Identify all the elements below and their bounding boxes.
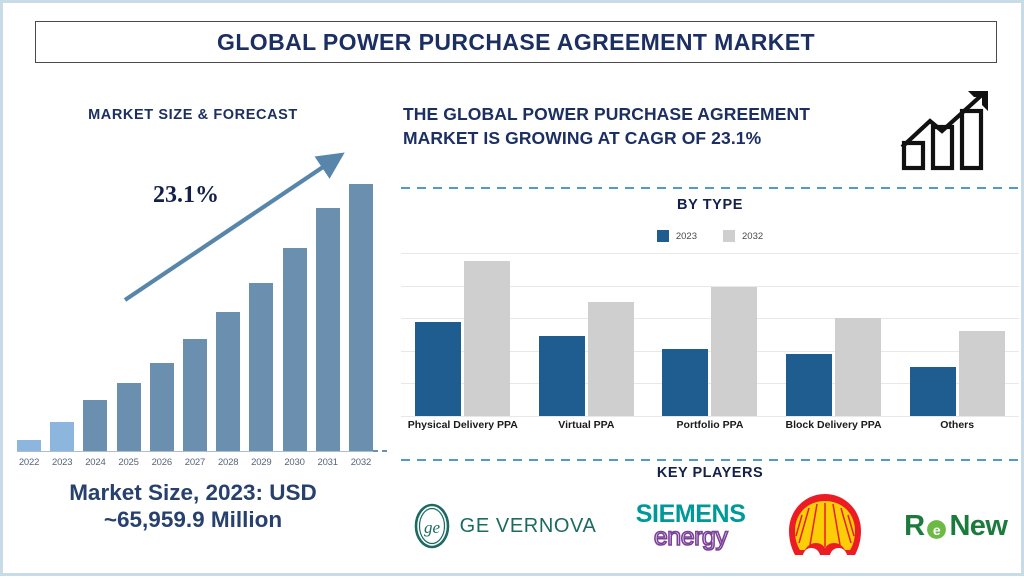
renew-logo[interactable]: R e New (904, 510, 1007, 543)
market-size-bar-2022 (17, 171, 41, 451)
cagr-headline: THE GLOBAL POWER PURCHASE AGREEMENT MARK… (403, 103, 863, 151)
svg-text:e: e (933, 522, 941, 538)
legend-swatch (723, 230, 735, 242)
legend-label: 2023 (676, 231, 697, 242)
market-size-bar-2023 (50, 171, 74, 451)
bar-group-block-delivery-ppa (786, 253, 881, 416)
bar (249, 283, 273, 451)
bar (83, 400, 107, 451)
gridline (401, 416, 1019, 417)
by-type-title: BY TYPE (393, 197, 1024, 213)
year-label: 2022 (17, 457, 41, 468)
bar-2023 (910, 367, 956, 416)
bar-2023 (786, 354, 832, 416)
legend-swatch (657, 230, 669, 242)
key-players-title: KEY PLAYERS (393, 465, 1024, 481)
shell-pecten-icon (785, 491, 865, 561)
bar-group-portfolio-ppa (662, 253, 757, 416)
by-type-legend: 20232032 (393, 230, 1024, 242)
by-type-category-labels: Physical Delivery PPAVirtual PPAPortfoli… (401, 419, 1019, 432)
shell-pecten-logo[interactable] (785, 491, 865, 561)
siemens-energy-subwordmark: energy (654, 526, 727, 549)
bar-2023 (539, 336, 585, 416)
category-label: Virtual PPA (530, 419, 642, 432)
market-size-year-labels: 2022202320242025202620272028202920302031… (17, 457, 373, 468)
ge-vernova-logo[interactable]: ge GE VERNOVA (413, 503, 597, 549)
by-type-bar-groups (401, 253, 1019, 416)
year-label: 2030 (283, 457, 307, 468)
bar (216, 312, 240, 451)
market-size-bar-2024 (83, 171, 107, 451)
year-label: 2026 (150, 457, 174, 468)
year-label: 2028 (216, 457, 240, 468)
bar (349, 184, 373, 451)
market-size-chart (17, 171, 373, 451)
renew-leaf-icon: e (925, 515, 948, 538)
market-size-panel: MARKET SIZE & FORECAST 23.1% 20222023202… (3, 75, 383, 579)
svg-text:ge: ge (424, 518, 441, 537)
market-size-bar-2032 (349, 171, 373, 451)
category-label: Others (901, 419, 1013, 432)
bar-group-physical-delivery-ppa (415, 253, 510, 416)
bar (117, 383, 141, 451)
bar-2032 (464, 261, 510, 416)
market-size-bar-2030 (283, 171, 307, 451)
bar-group-others (910, 253, 1005, 416)
market-size-bar-2028 (216, 171, 240, 451)
market-size-axis (17, 451, 373, 452)
category-label: Physical Delivery PPA (407, 419, 519, 432)
market-size-bars (17, 171, 373, 451)
year-label: 2029 (249, 457, 273, 468)
legend-item-2023[interactable]: 2023 (657, 230, 697, 242)
market-size-bar-2031 (316, 171, 340, 451)
bar (50, 422, 74, 451)
bar-2032 (711, 287, 757, 416)
market-size-heading: MARKET SIZE & FORECAST (3, 107, 383, 123)
page-title-box: GLOBAL POWER PURCHASE AGREEMENT MARKET (35, 21, 997, 63)
renew-wordmark-part1: R (904, 510, 924, 543)
renew-wordmark-part3: New (949, 510, 1007, 543)
bar-2023 (662, 349, 708, 416)
ge-vernova-wordmark: GE VERNOVA (460, 515, 597, 538)
bar (183, 339, 207, 451)
page-title: GLOBAL POWER PURCHASE AGREEMENT MARKET (217, 29, 815, 56)
divider-bottom (401, 459, 1019, 461)
infographic-root: GLOBAL POWER PURCHASE AGREEMENT MARKET M… (0, 0, 1024, 576)
year-label: 2024 (83, 457, 107, 468)
market-size-footer-line1: Market Size, 2023: USD (3, 479, 383, 506)
bar (17, 440, 41, 451)
category-label: Portfolio PPA (654, 419, 766, 432)
market-size-footer: Market Size, 2023: USD ~65,959.9 Million (3, 479, 383, 534)
year-label: 2023 (50, 457, 74, 468)
by-type-chart (401, 253, 1019, 416)
market-size-footer-line2: ~65,959.9 Million (3, 506, 383, 533)
legend-item-2032[interactable]: 2032 (723, 230, 763, 242)
bar (283, 248, 307, 451)
right-panel: THE GLOBAL POWER PURCHASE AGREEMENT MARK… (393, 75, 1024, 579)
bar-2032 (835, 318, 881, 416)
siemens-energy-logo[interactable]: SIEMENS energy (636, 503, 746, 549)
bar-group-virtual-ppa (539, 253, 634, 416)
key-players-logos: ge GE VERNOVA SIEMENS energy (393, 487, 1024, 565)
bar-chart-growth-arrow-icon (898, 87, 1003, 172)
year-label: 2031 (316, 457, 340, 468)
ge-monogram-icon: ge (413, 503, 451, 549)
year-label: 2025 (117, 457, 141, 468)
market-size-bar-2029 (249, 171, 273, 451)
bar (316, 208, 340, 451)
bar-2032 (588, 302, 634, 416)
axis-dash-extension (373, 450, 391, 452)
bar (150, 363, 174, 451)
market-size-bar-2025 (117, 171, 141, 451)
divider-top (401, 187, 1019, 189)
market-size-bar-2027 (183, 171, 207, 451)
bar-2032 (959, 331, 1005, 416)
legend-label: 2032 (742, 231, 763, 242)
year-label: 2032 (349, 457, 373, 468)
year-label: 2027 (183, 457, 207, 468)
category-label: Block Delivery PPA (778, 419, 890, 432)
market-size-bar-2026 (150, 171, 174, 451)
bar-2023 (415, 322, 461, 417)
